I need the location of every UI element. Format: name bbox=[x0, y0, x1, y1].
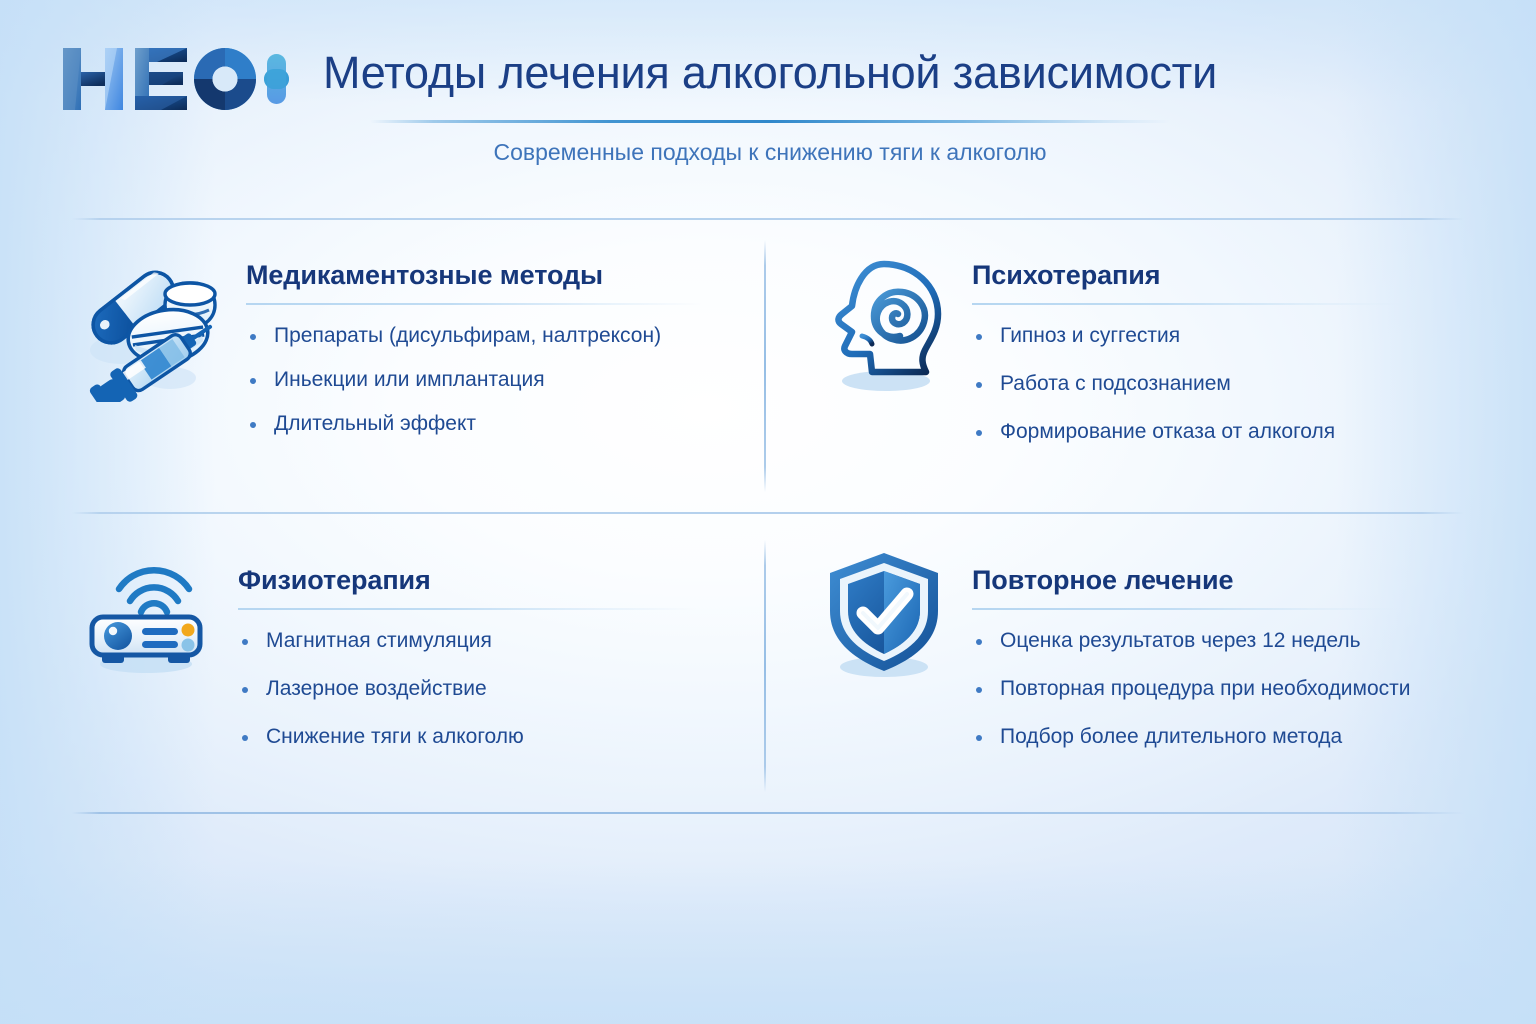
list-item-label: Формирование отказа от алкоголя bbox=[1000, 420, 1335, 443]
card-repeat-treatment: Повторное лечение Оценка результатов чер… bbox=[810, 545, 1470, 771]
bullet-list-medication: Препараты (дисульфирам, налтрексон) Инье… bbox=[246, 322, 752, 438]
card-body-psychotherapy: Психотерапия Гипноз и суггестия Работа с… bbox=[958, 250, 1470, 466]
card-physiotherapy: Физиотерапия Магнитная стимуляция Лазерн… bbox=[72, 545, 752, 771]
infographic-poster: Методы лечения алкогольной зависимости С… bbox=[0, 0, 1536, 1024]
bullet-dot-icon bbox=[242, 735, 248, 741]
poster-header: Методы лечения алкогольной зависимости С… bbox=[0, 0, 1536, 196]
list-item-label: Подбор более длительного метода bbox=[1000, 725, 1342, 748]
card-body-repeat-treatment: Повторное лечение Оценка результатов чер… bbox=[958, 545, 1470, 771]
list-item-label: Лазерное воздействие bbox=[266, 677, 487, 700]
list-item: Лазерное воздействие bbox=[238, 675, 752, 703]
page-title: Методы лечения алкогольной зависимости bbox=[300, 44, 1240, 102]
bullet-dot-icon bbox=[250, 378, 256, 384]
list-item-label: Магнитная стимуляция bbox=[266, 629, 492, 652]
list-item-label: Снижение тяги к алкоголю bbox=[266, 725, 524, 748]
card-title-rule bbox=[972, 608, 1402, 610]
bullet-dot-icon bbox=[976, 334, 982, 340]
neo-plus-logo bbox=[57, 42, 289, 116]
list-item-label: Работа с подсознанием bbox=[1000, 372, 1231, 395]
bullet-dot-icon bbox=[242, 687, 248, 693]
card-title-rule bbox=[246, 303, 704, 305]
list-item: Снижение тяги к алкоголю bbox=[238, 723, 752, 751]
list-item: Препараты (дисульфирам, налтрексон) bbox=[246, 322, 752, 350]
list-item: Подбор более длительного метода bbox=[972, 723, 1470, 751]
divider-bottom bbox=[72, 812, 1464, 814]
list-item: Повторная процедура при необходимости bbox=[972, 675, 1470, 703]
list-item-label: Иньекции или имплантация bbox=[274, 368, 545, 391]
bullet-dot-icon bbox=[976, 430, 982, 436]
list-item: Работа с подсознанием bbox=[972, 370, 1470, 398]
card-medication: Медикаментозные методы Препараты (дисуль… bbox=[72, 250, 752, 438]
card-title-psychotherapy: Психотерапия bbox=[972, 258, 1470, 292]
card-title-rule bbox=[238, 608, 696, 610]
pills-syringe-icon bbox=[72, 250, 224, 402]
head-spiral-icon bbox=[810, 250, 958, 398]
title-accent-rule bbox=[370, 120, 1170, 123]
list-item-label: Оценка результатов через 12 недель bbox=[1000, 629, 1361, 652]
list-item: Оценка результатов через 12 недель bbox=[972, 627, 1470, 655]
list-item: Гипноз и суггестия bbox=[972, 322, 1470, 350]
bullet-dot-icon bbox=[250, 334, 256, 340]
shield-check-icon bbox=[810, 545, 958, 693]
divider-vertical-row2 bbox=[764, 540, 766, 792]
bullet-list-repeat-treatment: Оценка результатов через 12 недель Повто… bbox=[972, 627, 1470, 751]
bullet-list-psychotherapy: Гипноз и суггестия Работа с подсознанием… bbox=[972, 322, 1470, 446]
list-item-label: Препараты (дисульфирам, налтрексон) bbox=[274, 324, 661, 347]
list-item-label: Длительный эффект bbox=[274, 412, 476, 435]
bullet-dot-icon bbox=[976, 735, 982, 741]
divider-top bbox=[72, 218, 1464, 220]
list-item: Магнитная стимуляция bbox=[238, 627, 752, 655]
card-title-physiotherapy: Физиотерапия bbox=[238, 563, 752, 597]
card-title-medication: Медикаментозные методы bbox=[246, 258, 752, 292]
card-body-medication: Медикаментозные методы Препараты (дисуль… bbox=[224, 250, 752, 438]
divider-middle bbox=[72, 512, 1464, 514]
bullet-list-physiotherapy: Магнитная стимуляция Лазерное воздействи… bbox=[238, 627, 752, 751]
bullet-dot-icon bbox=[250, 422, 256, 428]
list-item: Иньекции или имплантация bbox=[246, 366, 752, 394]
bullet-dot-icon bbox=[976, 687, 982, 693]
card-body-physiotherapy: Физиотерапия Магнитная стимуляция Лазерн… bbox=[220, 545, 752, 771]
card-title-rule bbox=[972, 303, 1402, 305]
list-item-label: Гипноз и суггестия bbox=[1000, 324, 1180, 347]
bullet-dot-icon bbox=[976, 639, 982, 645]
divider-vertical-row1 bbox=[764, 240, 766, 492]
card-title-repeat-treatment: Повторное лечение bbox=[972, 563, 1470, 597]
list-item-label: Повторная процедура при необходимости bbox=[1000, 677, 1410, 700]
therapy-device-icon bbox=[72, 545, 220, 693]
bullet-dot-icon bbox=[976, 382, 982, 388]
bullet-dot-icon bbox=[242, 639, 248, 645]
page-subtitle: Современные подходы к снижению тяги к ал… bbox=[300, 136, 1240, 168]
list-item: Формирование отказа от алкоголя bbox=[972, 418, 1470, 446]
list-item: Длительный эффект bbox=[246, 410, 752, 438]
card-psychotherapy: Психотерапия Гипноз и суггестия Работа с… bbox=[810, 250, 1470, 466]
